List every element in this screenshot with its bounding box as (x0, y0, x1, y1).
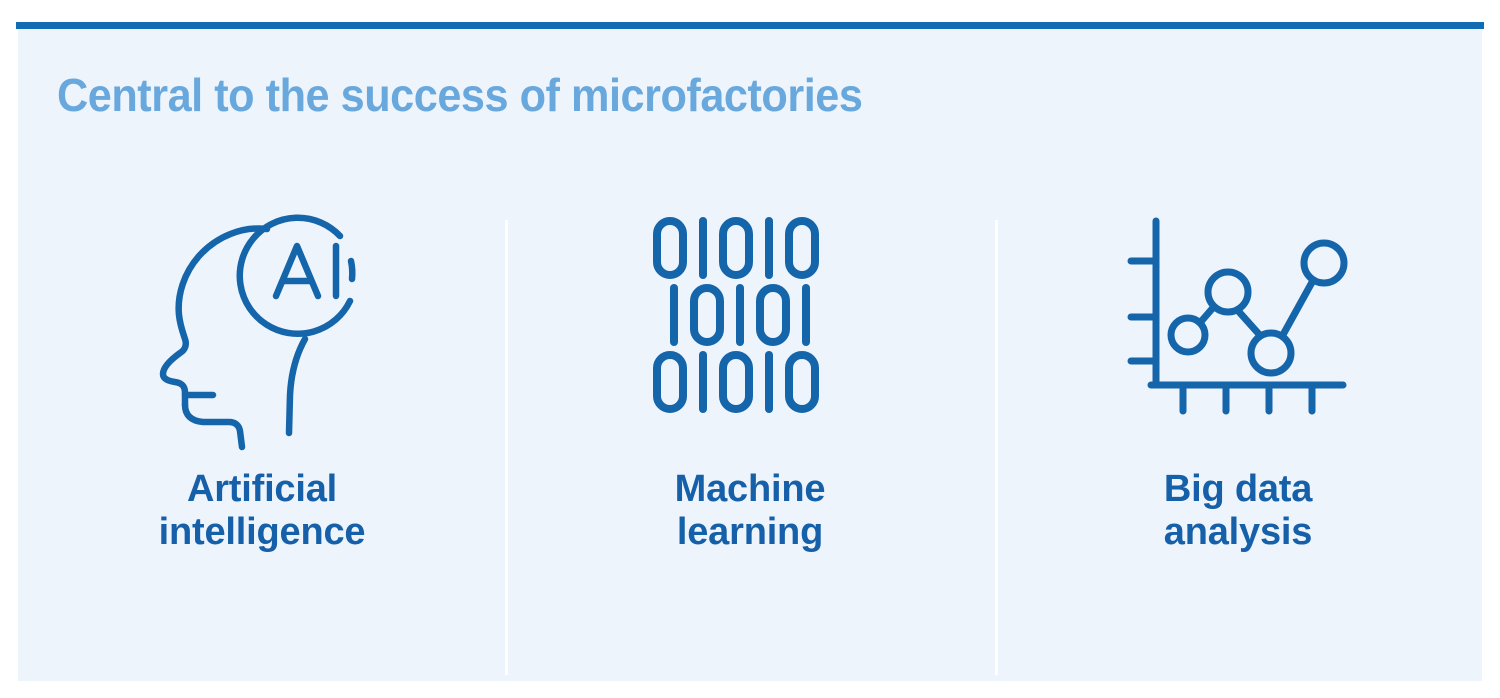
feature-column-artificial-intelligence: Artificial intelligence (18, 190, 506, 660)
feature-column-machine-learning: Machine learning (506, 190, 994, 660)
label-line-2: learning (677, 511, 823, 553)
page-title: Central to the success of microfactories (57, 72, 862, 118)
line-chart-icon (1121, 213, 1356, 418)
feature-column-big-data-analysis: Big data analysis (994, 190, 1482, 660)
chart-y-ticks (1131, 261, 1156, 361)
binary-digits-icon (650, 215, 850, 415)
binary-icon-container (650, 190, 850, 440)
infographic-root: Central to the success of microfactories (0, 0, 1500, 698)
binary-row-3 (657, 355, 815, 409)
feature-label-artificial-intelligence: Artificial intelligence (159, 468, 366, 553)
label-line-1: Artificial (187, 468, 337, 510)
chart-data-points (1171, 243, 1344, 373)
ai-head-icon (155, 203, 370, 428)
chart-x-ticks (1183, 385, 1312, 411)
feature-columns: Artificial intelligence (18, 190, 1482, 660)
chart-icon-container (1121, 190, 1356, 440)
feature-label-big-data-analysis: Big data analysis (1164, 468, 1312, 553)
binary-row-2 (674, 288, 806, 342)
label-line-1: Big data (1164, 468, 1312, 510)
binary-row-1 (657, 221, 815, 275)
label-line-1: Machine (675, 468, 826, 510)
label-line-2: analysis (1164, 511, 1312, 553)
feature-label-machine-learning: Machine learning (675, 468, 826, 553)
top-accent-rule (16, 22, 1484, 29)
ai-icon-container (155, 190, 370, 440)
label-line-2: intelligence (159, 511, 366, 553)
